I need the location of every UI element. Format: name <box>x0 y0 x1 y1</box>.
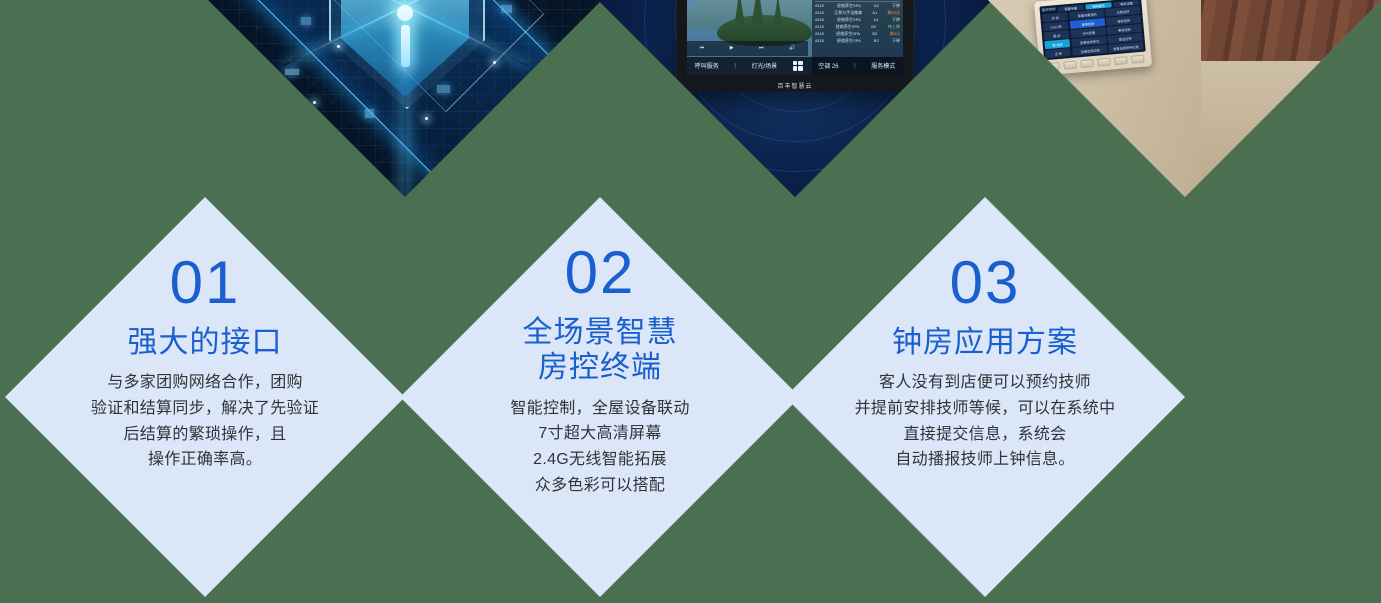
room-floor <box>1201 61 1381 197</box>
cell-status: 下钟 <box>892 17 900 23</box>
panel-menu-right-item-4[interactable]: 查看技师排钟记录 <box>1108 42 1143 53</box>
feature-title-03: 钟房应用方案 <box>892 325 1078 360</box>
service-table-row: 8115经络养生SPAB2待上钟 <box>815 23 900 30</box>
apps-grid-icon[interactable] <box>793 61 803 71</box>
tab-call-service[interactable]: 呼叫服务 <box>695 61 719 70</box>
feature-card-02-content: 02 全场景智慧 房控终端 智能控制，全屋设备联动 7寸超大高清屏幕 2.4G无… <box>400 243 800 498</box>
tablet-screen[interactable]: ⏮ ▶ ⏭ 🔊 22:35 SPA6房 26°C 11/24 钟入 <box>687 0 903 75</box>
panel-menu-columns: 保健专案预约客房控钟SPA经理查看技师钟况查看空调功率 正骨控钟增钟控钟看钟控钟… <box>1069 6 1143 56</box>
media-play-icon[interactable]: ▶ <box>730 45 734 51</box>
feature-diamond-board: CSIZBO ⏮ ▶ ⏭ 🔊 22:35 <box>0 0 1381 603</box>
service-table-row: 8115经络养生SPAB2下钟 <box>815 37 900 44</box>
tab-air-conditioner[interactable]: 空调 26 <box>818 61 838 70</box>
service-table-row: 8115经络养生SPAB2剩3分 <box>815 30 900 37</box>
tab-service-mode[interactable]: 服务模式 <box>871 61 895 70</box>
service-table-row: 8115经络养生SPAA1下钟 <box>815 16 900 23</box>
feature-title-02: 全场景智慧 房控终端 <box>523 315 678 386</box>
service-table-body: 8115经络养生SPAA2下钟8115正骨与手法推拿A1剩15分8115经络养生… <box>815 2 900 44</box>
cell-tech: B2 <box>871 24 876 30</box>
panel-left-column: 点 钟CALL钟圈 钟换 技师点 钟 <box>1042 12 1071 58</box>
panel-button-3[interactable] <box>1080 59 1094 68</box>
glow-particles <box>205 0 605 197</box>
cell-time: 8115 <box>815 10 824 16</box>
cell-time: 8115 <box>815 38 824 44</box>
cell-time: 8115 <box>815 31 824 37</box>
cell-status: 待上钟 <box>888 24 900 30</box>
feature-description-01: 与多家团购网络合作，团购 验证和结算同步，解决了先验证 后结算的繁琐操作，且 操… <box>91 370 319 472</box>
cell-tech: A2 <box>874 3 879 9</box>
panel-button-2[interactable] <box>1063 61 1077 70</box>
feature-number-02: 02 <box>565 243 636 303</box>
wall-control-panel[interactable]: 客房控制 保健专案 钟房服务 客房设置 点 钟CALL钟圈 钟换 技师点 钟 保… <box>1034 0 1152 76</box>
tablet-brand-label: 百丰智慧云 <box>677 81 913 90</box>
feature-image-room-panel: 客房控制 保健专案 钟房服务 客房设置 点 钟CALL钟圈 钟换 技师点 钟 保… <box>985 0 1381 197</box>
cell-status: 下钟 <box>892 3 900 9</box>
cell-item: 经络养生SPA <box>837 38 861 44</box>
cell-item: 经络养生SPA <box>836 31 860 37</box>
plant-leaf-1 <box>1275 102 1337 178</box>
feature-card-03[interactable]: 03 钟房应用方案 客人没有到店便可以预约技师 并提前安排技师等候，可以在系统中… <box>785 197 1185 597</box>
feature-image-security-shield <box>205 0 605 197</box>
feature-card-02[interactable]: 02 全场景智慧 房控终端 智能控制，全屋设备联动 7寸超大高清屏幕 2.4G无… <box>400 197 800 597</box>
tablet-tab-bar[interactable]: 呼叫服务 | 灯光/场景 空调 26 | 服务模式 <box>687 57 903 75</box>
panel-button-5[interactable] <box>1114 56 1128 65</box>
cell-item: 经络养生SPA <box>837 3 861 9</box>
service-table: 钟入 项目 技师 状态 8115经络养生SPAA2下钟8115正骨与手法推拿A1… <box>815 0 900 44</box>
panel-menu-left: 保健专案预约客房控钟SPA经理查看技师钟况查看空调功率 <box>1069 9 1107 56</box>
cell-item: 正骨与手法推拿 <box>834 10 862 16</box>
tab-separator-2: | <box>854 63 856 69</box>
cell-status: 剩3分 <box>890 31 900 37</box>
plant-leaf-3 <box>1324 86 1380 146</box>
cell-tech: A1 <box>872 10 877 16</box>
feature-number-01: 01 <box>170 253 241 313</box>
panel-screen[interactable]: 客房控制 保健专案 钟房服务 客房设置 点 钟CALL钟圈 钟换 技师点 钟 保… <box>1039 0 1145 60</box>
panel-button-4[interactable] <box>1097 58 1111 67</box>
feature-number-03: 03 <box>950 253 1021 313</box>
feature-image-control-tablet: CSIZBO ⏮ ▶ ⏭ 🔊 22:35 <box>595 0 995 197</box>
panel-left-item-4[interactable]: 点 钟 <box>1045 48 1071 58</box>
cell-item: 经络养生SPA <box>837 17 861 23</box>
cell-tech: B2 <box>872 31 877 37</box>
feature-card-01[interactable]: 01 强大的接口 与多家团购网络合作，团购 验证和结算同步，解决了先验证 后结算… <box>5 197 405 597</box>
feature-title-01: 强大的接口 <box>128 325 283 360</box>
cell-time: 8115 <box>815 17 824 23</box>
tablet-device: CSIZBO ⏮ ▶ ⏭ 🔊 22:35 <box>677 0 913 91</box>
cell-status: 下钟 <box>892 38 900 44</box>
cell-status: 剩15分 <box>888 10 900 16</box>
tab-separator-1: | <box>734 63 736 69</box>
feature-card-01-content: 01 强大的接口 与多家团购网络合作，团购 验证和结算同步，解决了先验证 后结算… <box>5 253 405 473</box>
media-next-icon[interactable]: ⏭ <box>759 45 764 51</box>
feature-description-03: 客人没有到店便可以预约技师 并提前安排技师等候，可以在系统中 直接提交信息，系统… <box>855 370 1116 472</box>
cell-time: 8115 <box>815 3 824 9</box>
panel-button-1[interactable] <box>1046 62 1060 71</box>
media-prev-icon[interactable]: ⏮ <box>700 45 705 51</box>
panel-body: 点 钟CALL钟圈 钟换 技师点 钟 保健专案预约客房控钟SPA经理查看技师钟况… <box>1042 6 1143 58</box>
service-table-row: 8115正骨与手法推拿A1剩15分 <box>815 9 900 16</box>
cell-tech: B2 <box>874 38 879 44</box>
panel-menu-right: 正骨控钟增钟控钟看钟控钟营业控钟查看技师排钟记录 <box>1105 6 1143 53</box>
tab-lighting-scene[interactable]: 灯光/场景 <box>751 61 777 70</box>
cell-item: 经络养生SPA <box>836 24 860 30</box>
media-volume-icon[interactable]: 🔊 <box>789 45 795 51</box>
feature-card-03-content: 03 钟房应用方案 客人没有到店便可以预约技师 并提前安排技师等候，可以在系统中… <box>785 253 1185 473</box>
service-table-row: 8115经络养生SPAA2下钟 <box>815 2 900 9</box>
media-control-bar[interactable]: ⏮ ▶ ⏭ 🔊 <box>687 41 808 56</box>
cell-time: 8115 <box>815 24 824 30</box>
panel-button-6[interactable] <box>1131 55 1145 64</box>
cell-tech: A1 <box>874 17 879 23</box>
panel-menu-left-item-4[interactable]: 查看空调功率 <box>1073 45 1108 56</box>
feature-description-02: 智能控制，全屋设备联动 7寸超大高清屏幕 2.4G无线智能拓展 众多色彩可以搭配 <box>510 396 689 498</box>
